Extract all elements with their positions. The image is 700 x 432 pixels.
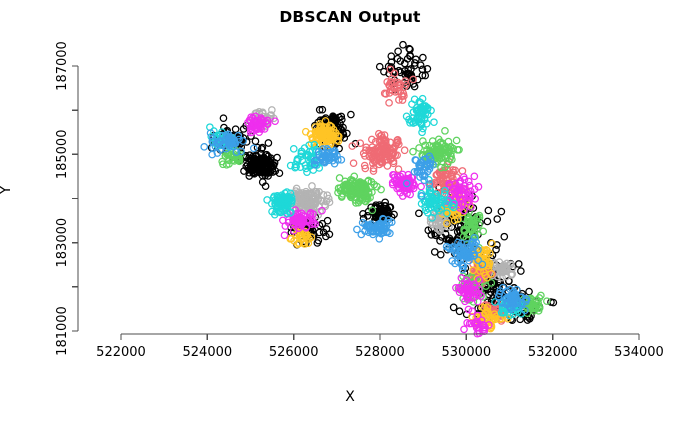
y-axis-title: Y xyxy=(0,170,14,210)
plot-canvas: 5220005240005260005280005300005320005340… xyxy=(0,0,700,432)
scatter-point xyxy=(386,100,392,106)
scatter-point xyxy=(274,154,280,160)
scatter-point xyxy=(401,147,407,153)
scatter-point xyxy=(252,138,258,144)
scatter-point xyxy=(410,148,416,154)
scatter-point xyxy=(309,183,315,189)
y-tick-label: 187000 xyxy=(55,41,70,91)
scatter-point xyxy=(264,197,270,203)
scatter-point xyxy=(416,145,422,151)
x-tick-label: 530000 xyxy=(442,345,492,360)
scatter-point xyxy=(518,268,524,274)
y-tick-label: 183000 xyxy=(55,218,70,268)
x-tick-label: 526000 xyxy=(269,345,319,360)
scatter-point xyxy=(498,208,504,214)
data-points-layer xyxy=(201,42,557,337)
scatter-point xyxy=(432,249,438,255)
scatter-point xyxy=(461,326,467,332)
scatter-point xyxy=(453,137,459,143)
scatter-point xyxy=(384,163,390,169)
scatter-point xyxy=(357,140,363,146)
scatter-point xyxy=(265,140,271,146)
scatter-point xyxy=(324,217,330,223)
scatter-point xyxy=(291,146,297,152)
scatter-point xyxy=(431,119,437,125)
scatter-point xyxy=(220,115,226,121)
x-tick-label: 532000 xyxy=(528,345,578,360)
scatter-point xyxy=(350,160,356,166)
y-tick-label: 185000 xyxy=(55,130,70,180)
x-tick-label: 528000 xyxy=(355,345,405,360)
x-tick-label: 522000 xyxy=(96,345,146,360)
y-tick-label: 181000 xyxy=(55,306,70,356)
scatter-point xyxy=(419,129,425,135)
scatter-point xyxy=(251,145,257,151)
scatter-point xyxy=(526,288,532,294)
scatter-point xyxy=(471,173,477,179)
scatter-point xyxy=(442,128,448,134)
x-tick-label: 534000 xyxy=(614,345,664,360)
scatter-point xyxy=(450,304,456,310)
dbscan-scatter-plot: DBSCAN Output 52200052400052600052800053… xyxy=(0,0,700,432)
scatter-point xyxy=(456,308,462,314)
scatter-point xyxy=(459,168,465,174)
scatter-point xyxy=(201,144,207,150)
scatter-point xyxy=(416,210,422,216)
scatter-point xyxy=(420,54,426,60)
scatter-point xyxy=(501,233,507,239)
scatter-point xyxy=(494,216,500,222)
scatter-point xyxy=(484,218,490,224)
scatter-point xyxy=(544,298,550,304)
x-axis-title: X xyxy=(0,389,700,405)
scatter-point xyxy=(232,126,238,132)
scatter-point xyxy=(400,42,406,48)
x-tick-label: 524000 xyxy=(183,345,233,360)
scatter-point xyxy=(348,111,354,117)
scatter-point xyxy=(281,232,287,238)
scatter-point xyxy=(480,228,486,234)
scatter-point xyxy=(485,207,491,213)
scatter-point xyxy=(418,183,424,189)
scatter-point xyxy=(387,230,393,236)
scatter-point xyxy=(395,48,401,54)
scatter-point xyxy=(354,226,360,232)
